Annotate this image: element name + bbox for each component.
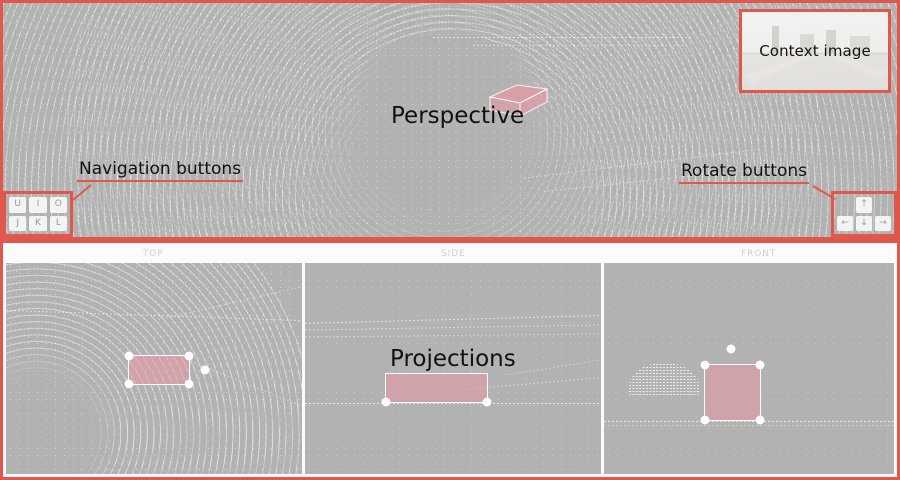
handle-corner-sw[interactable] [125,380,134,389]
ground-line-front-2 [604,425,894,426]
callout-rule [679,182,809,184]
handle-corner-nw[interactable] [701,361,710,370]
arrow-right-icon[interactable]: → [875,216,891,232]
view-title-front: FRONT [741,249,776,259]
cloud-streak [473,45,683,46]
cloud-streak [506,359,601,375]
key-o[interactable]: O [50,197,67,213]
arrow-left-icon[interactable]: ← [837,216,853,232]
rotate-buttons-callout-label: Rotate buttons [679,161,809,182]
arrow-down-icon[interactable]: ↓ [856,216,872,232]
ground-line-front [604,421,894,422]
context-image-label: Context image [742,42,888,60]
handle-corner-se[interactable] [756,416,765,425]
handle-corner-ne[interactable] [185,352,194,361]
point-cloud-blob [629,363,699,397]
callout-rule [77,180,243,182]
key-k[interactable]: K [29,216,46,232]
view-title-side: SIDE [441,249,466,259]
projections-label: Projections [390,346,516,372]
navigation-buttons-callout: Navigation buttons [77,159,243,182]
key-spacer [837,197,853,213]
view-title-top: TOP [143,249,164,259]
bounding-box-side[interactable] [385,373,488,403]
handle-top-center[interactable] [727,345,736,354]
cloud-streak [305,315,601,324]
ground-line-side [305,403,601,404]
handle-corner-se[interactable] [483,398,492,407]
navigation-buttons-callout-label: Navigation buttons [77,159,243,180]
bounding-box-top[interactable] [128,355,190,385]
key-i[interactable]: I [29,197,46,213]
cloud-streak [305,324,601,330]
key-l[interactable]: L [50,216,67,232]
handle-corner-sw[interactable] [701,416,710,425]
rotate-buttons-callout: Rotate buttons [679,161,809,184]
key-j[interactable]: J [9,216,26,232]
perspective-panel[interactable]: Perspective Context image U [0,0,900,240]
front-view[interactable] [604,263,894,474]
handle-corner-ne[interactable] [756,361,765,370]
handle-corner-se[interactable] [185,380,194,389]
cloud-streak [305,333,601,337]
top-view[interactable] [6,263,302,474]
annotation-tool-screenshot: Perspective Context image U [0,0,900,480]
projection-titles: TOP SIDE FRONT [3,246,897,263]
arrow-up-icon[interactable]: ↑ [856,197,872,213]
handle-corner-sw[interactable] [382,398,391,407]
key-spacer [875,197,891,213]
rotate-buttons-cluster[interactable]: ↑ ← ↓ → [831,191,897,237]
cloud-streak [433,37,693,38]
handle-corner-nw[interactable] [125,352,134,361]
navigation-buttons-cluster[interactable]: U I O J K L [3,191,73,237]
projections-panel[interactable]: TOP SIDE FRONT [0,240,900,480]
perspective-label: Perspective [391,103,524,129]
bounding-box-front[interactable] [704,364,761,421]
context-image-panel[interactable]: Context image [739,9,891,93]
key-u[interactable]: U [9,197,26,213]
handle-heading[interactable] [200,366,209,375]
